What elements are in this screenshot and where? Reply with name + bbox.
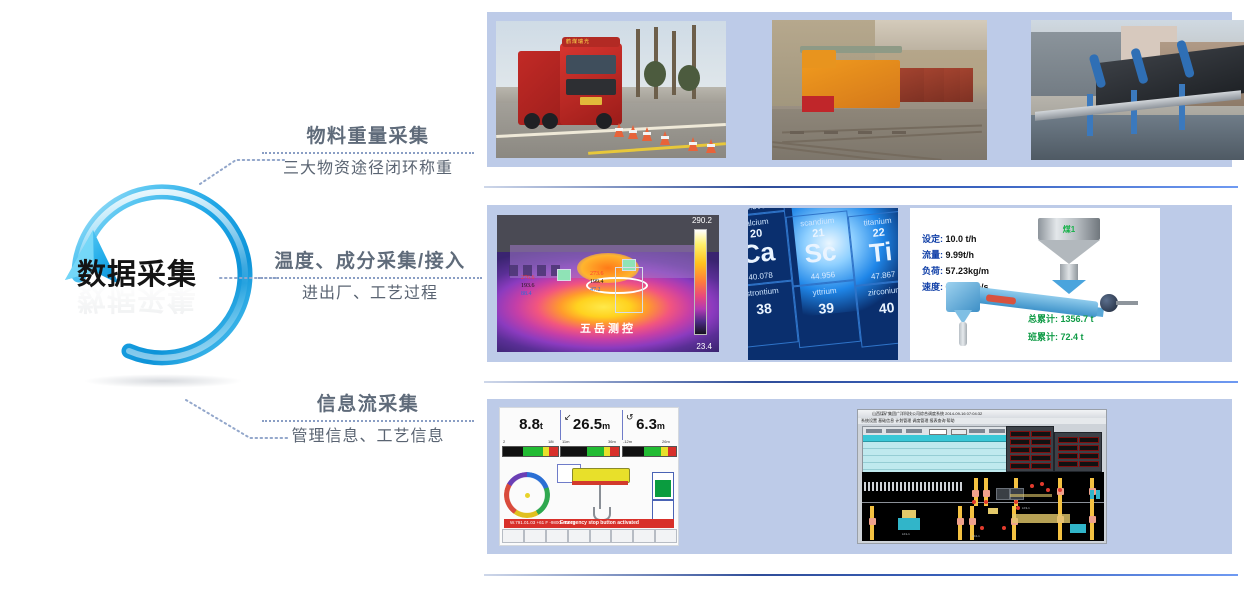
label-subtitle: 管理信息、工艺信息	[262, 426, 474, 448]
truck-license-plate	[580, 97, 602, 105]
toolbar-button[interactable]	[655, 529, 677, 543]
stacker-post	[1090, 506, 1094, 540]
mimic-diagram[interactable]: LF1-1 LF2-1 LF3-1	[862, 472, 1104, 541]
filter-radio[interactable]	[906, 429, 922, 433]
bar-segment	[523, 447, 543, 456]
label-divider	[258, 277, 482, 279]
crane-tick-left: 2	[503, 439, 505, 444]
locomotive-front	[802, 96, 834, 112]
status-indicator	[1014, 500, 1018, 504]
led-readout	[1010, 447, 1030, 453]
bar-segment	[549, 447, 558, 456]
filter-radio[interactable]	[989, 429, 1005, 433]
support-leg	[1131, 90, 1137, 134]
panels-column: 鹤煤瑞光	[480, 0, 1244, 597]
bar-segment	[587, 447, 604, 456]
status-indicator	[972, 500, 976, 504]
row-separator	[484, 574, 1238, 576]
status-indicator	[980, 526, 984, 530]
element-name: zirconium	[857, 284, 898, 299]
crane-number: 26.5	[573, 416, 602, 433]
slew-dial-indicator	[525, 493, 530, 498]
crane-bar-height	[622, 446, 677, 457]
thermal-scale-max: 290.2	[692, 216, 712, 225]
led-readout	[1031, 463, 1051, 469]
crane-bar-radius	[560, 446, 620, 457]
element-symbol: Sc	[789, 236, 852, 270]
crane-lmi-display: 8.8t ↙ 26.5m ↺ 6.3m 2 18t 11m 36m -12m 2…	[499, 407, 679, 546]
element-number: 39	[796, 297, 857, 319]
status-indicator	[1040, 482, 1044, 486]
panel-material-weight: 鹤煤瑞光	[487, 12, 1232, 167]
thermal-camera-image: 276.6 193.6 88.4 273.6 199.4 47.2 五岳测控 2…	[497, 215, 719, 352]
led-readout	[1079, 461, 1099, 467]
hopper-label: 煤1	[1049, 224, 1089, 235]
feeder-reading-key: 负荷:	[922, 266, 943, 276]
bar-segment	[561, 447, 587, 456]
panel-temperature-composition: 276.6 193.6 88.4 273.6 199.4 47.2 五岳测控 2…	[487, 205, 1232, 362]
chute	[988, 508, 998, 514]
thermal-reading-hot: 276.6	[521, 275, 535, 282]
traffic-cone	[706, 139, 716, 153]
bar-segment	[610, 447, 619, 456]
status-indicator	[1016, 506, 1020, 510]
toolbar-button[interactable]	[502, 529, 524, 543]
led-readout	[1010, 455, 1030, 461]
element-cell-strontium: strontium 38	[748, 281, 799, 349]
element-cell-yttrium: yttrium 39	[793, 280, 861, 348]
led-readout	[1010, 439, 1030, 445]
crane-tick-left: 11m	[562, 439, 569, 444]
thermal-reading-low: 47.2	[590, 287, 601, 294]
led-readout	[1079, 453, 1099, 459]
status-indicator	[984, 500, 988, 504]
yard-pile	[1012, 514, 1070, 523]
thermal-roi-box	[615, 267, 643, 313]
crane-number: 8.8	[519, 416, 540, 433]
stacker-post	[1058, 506, 1062, 540]
alarm-message: Emergency stop button activated	[560, 520, 639, 526]
status-indicator	[1002, 526, 1006, 530]
toolbar-button[interactable]	[611, 529, 633, 543]
element-mass: 47.867	[855, 268, 898, 283]
crane-unit: m	[602, 421, 610, 431]
feeder-shift-total: 班累计: 72.4 t	[1028, 330, 1084, 343]
thermal-color-scale	[694, 229, 707, 335]
led-readout	[1010, 431, 1030, 437]
node-caption: LF3-1	[1022, 506, 1030, 510]
crane-unit: t	[540, 421, 543, 431]
crane-tick-right: 26m	[662, 439, 670, 444]
row-separator	[484, 186, 1238, 188]
equipment-block[interactable]	[996, 488, 1010, 500]
tree	[672, 31, 676, 95]
feeder-reading-key: 速度:	[922, 282, 943, 292]
train-photo	[772, 20, 987, 160]
toolbar-button[interactable]	[590, 529, 612, 543]
bar-segment	[543, 447, 550, 456]
element-number: 38	[748, 298, 795, 320]
side-gauge-upper[interactable]	[652, 472, 674, 500]
thermal-scale-min: 23.4	[696, 342, 712, 351]
crane-cell-height: ↺ 6.3m	[622, 410, 678, 440]
truck-sign-text: 鹤煤瑞光	[566, 38, 590, 45]
label-title: 温度、成分采集/接入	[258, 250, 482, 274]
led-readout	[1058, 453, 1078, 459]
crane-number: 6.3	[636, 416, 657, 433]
equipment-node[interactable]	[972, 490, 979, 497]
hopper-neck	[1060, 264, 1078, 280]
label-subtitle: 三大物资途径闭环称重	[262, 158, 474, 180]
level-divider	[862, 502, 1104, 503]
label-group-information-flow[interactable]: 信息流采集 管理信息、工艺信息	[262, 393, 474, 448]
thermal-marker-box	[557, 269, 571, 281]
railroad-tie	[790, 131, 804, 134]
label-divider	[262, 420, 474, 422]
cycle-shadow	[83, 374, 243, 388]
gauge-fill	[655, 480, 671, 497]
hopper-cone	[1038, 240, 1100, 264]
truck-grille	[566, 79, 616, 95]
element-cell-titanium: titanium 22 Ti 47.867	[848, 211, 898, 287]
window-title: 山西煤矿集团广洋科技公司综合调度系统 2014-09-16 07:04:32	[872, 411, 982, 417]
feeder-reading-value: 9.99t/h	[946, 250, 975, 260]
freight-wagon	[924, 68, 944, 102]
periodic-table-image: 24.305 calcium 20 Ca 40.078 scandium 21 …	[748, 208, 898, 360]
element-symbol: Ca	[748, 236, 789, 270]
table-row[interactable]	[863, 442, 1009, 449]
alarm-led-panel-1	[1006, 426, 1054, 472]
truck-windshield	[566, 55, 616, 74]
led-readout	[1058, 445, 1078, 451]
table-row[interactable]	[863, 449, 1009, 456]
led-readout	[1031, 455, 1051, 461]
freight-wagon	[960, 68, 973, 102]
thermal-window	[537, 265, 546, 276]
led-readout	[1031, 447, 1051, 453]
led-readout	[1079, 445, 1099, 451]
locomotive-cab	[802, 50, 836, 68]
label-divider	[262, 152, 474, 154]
alarm-banner: W.791.01.03 +61 F -9800 +0248 Emergency …	[504, 519, 674, 528]
equipment-node[interactable]	[969, 518, 976, 525]
table-row[interactable]	[863, 456, 1009, 463]
tree	[636, 29, 640, 97]
crane-value: 8.8t	[502, 416, 560, 433]
toolbar-button[interactable]	[633, 529, 655, 543]
coal-feeder-scada: 设定: 10.0 t/h 流量: 9.99t/h 负荷: 57.23kg/m 速…	[910, 208, 1160, 360]
traffic-cone	[614, 123, 624, 137]
bar-segment	[623, 447, 644, 456]
led-readout	[1058, 437, 1078, 443]
ground	[1031, 115, 1244, 160]
label-title: 信息流采集	[262, 393, 474, 417]
crane-toolbar[interactable]	[502, 529, 677, 543]
node-caption: LF1-1	[902, 532, 910, 536]
element-cell-zirconium: zirconium 40	[855, 280, 898, 348]
feeder-reading-row: 流量: 9.99t/h	[922, 248, 974, 261]
status-indicator	[1046, 488, 1050, 492]
element-symbol: Ti	[851, 236, 898, 270]
thermal-reading-mid: 199.4	[590, 279, 604, 286]
loading-hopper	[902, 510, 916, 518]
feeder-reading-row: 负荷: 57.23kg/m	[922, 264, 989, 277]
conveyor-photo	[1031, 20, 1244, 160]
traffic-cone	[660, 131, 670, 145]
feeder-reading-key: 流量:	[922, 250, 943, 260]
crane-tick-left: -12m	[623, 439, 632, 444]
crane-tick-right: 36m	[608, 439, 616, 444]
tree-canopy	[678, 65, 700, 91]
equipment-node[interactable]	[983, 490, 990, 497]
toolbar-button[interactable]	[524, 529, 546, 543]
crane-cell-radius: ↙ 26.5m	[560, 410, 622, 440]
table-header-row	[863, 435, 1009, 442]
periodic-table-grid: 24.305 calcium 20 Ca 40.078 scandium 21 …	[748, 208, 898, 360]
element-cell-scandium: scandium 21 Sc 44.956	[786, 211, 855, 287]
belt-line	[1010, 494, 1052, 497]
feeder-reading-value: 10.0 t/h	[946, 234, 977, 244]
feeder-total: 总累计: 1356.7 t	[1028, 312, 1094, 325]
element-number: 40	[858, 297, 898, 319]
led-readout	[1079, 437, 1099, 443]
led-readout	[1058, 461, 1078, 467]
crane-value: 26.5m	[561, 416, 622, 433]
conveyor-hatch	[864, 482, 964, 491]
label-group-temperature-composition[interactable]: 温度、成分采集/接入 进出厂、工艺过程	[258, 250, 482, 305]
thermal-reading-mid: 193.6	[521, 283, 535, 290]
drive-shaft	[1116, 301, 1138, 305]
plan-table[interactable]	[862, 426, 1010, 472]
led-readout	[1010, 463, 1030, 469]
crane-bar-load	[502, 446, 559, 457]
crane-value: 6.3m	[623, 416, 678, 433]
freight-wagon	[944, 68, 960, 102]
truck-wheel	[596, 113, 612, 129]
filter-toolbar[interactable]	[863, 427, 1009, 435]
traffic-cone	[628, 125, 638, 139]
feeder-reading-key: 设定:	[922, 234, 943, 244]
hopper-support-leg	[959, 322, 967, 346]
feeder-reading-row: 设定: 10.0 t/h	[922, 232, 977, 245]
label-group-material-weight[interactable]: 物料重量采集 三大物资途径闭环称重	[262, 125, 474, 180]
truck-wheel	[542, 113, 558, 129]
status-indicator	[1058, 488, 1062, 492]
label-title: 物料重量采集	[262, 125, 474, 149]
silo-indicator	[1096, 490, 1100, 499]
traffic-cone	[688, 137, 698, 151]
node-caption: LF2-1	[972, 534, 980, 538]
table-row[interactable]	[863, 463, 1009, 470]
alarm-led-panel-2	[1054, 432, 1102, 472]
feeder-reading-value: 57.23kg/m	[946, 266, 990, 276]
filter-radio[interactable]	[886, 429, 902, 433]
hoist-rope	[599, 485, 601, 509]
status-indicator	[1030, 484, 1034, 488]
loading-station[interactable]	[898, 518, 920, 530]
thermal-reading-hot: 273.6	[590, 271, 604, 278]
bar-segment	[644, 447, 661, 456]
thermal-reading-low: 88.4	[521, 291, 532, 298]
silo-indicator	[1090, 490, 1094, 499]
label-subtitle: 进出厂、工艺过程	[258, 283, 482, 305]
dispatch-scada-window: 山西煤矿集团广洋科技公司综合调度系统 2014-09-16 07:04:32 系…	[857, 409, 1107, 544]
equipment-node[interactable]	[1089, 516, 1096, 523]
led-readout	[1031, 431, 1051, 437]
support-leg	[1179, 84, 1185, 130]
filter-radio[interactable]	[969, 429, 985, 433]
discharge-chute	[1052, 280, 1086, 294]
tree-canopy	[644, 61, 666, 87]
menu-items: 系统设置 基础信息 计划管理 调度管理 报表查询 帮助	[861, 418, 955, 424]
filter-radio[interactable]	[866, 429, 882, 433]
thermal-watermark: 五岳测控	[497, 320, 719, 336]
equipment-node[interactable]	[957, 518, 964, 525]
diagram-column: 数据采集 数据采集 物料重量采集 三大物资途径闭环称重 温度、成分采集/接入 进…	[0, 0, 480, 597]
crane-tick-right: 18t	[548, 439, 554, 444]
toolbar-button[interactable]	[546, 529, 568, 543]
crane-unit: m	[657, 421, 665, 431]
weighbridge[interactable]	[1070, 524, 1086, 533]
thermal-window	[509, 265, 518, 276]
receiving-hopper	[946, 282, 980, 312]
railroad-tie	[858, 131, 872, 134]
bar-segment	[668, 447, 676, 456]
traffic-cone	[642, 127, 652, 141]
railroad-tie	[892, 131, 906, 134]
led-readout	[1031, 439, 1051, 445]
crane-cell-load: 8.8t	[502, 410, 560, 440]
truck-photo: 鹤煤瑞光	[496, 21, 726, 158]
truck-wheel	[524, 113, 540, 129]
freight-wagon	[900, 68, 924, 102]
panel-information-flow: 8.8t ↙ 26.5m ↺ 6.3m 2 18t 11m 36m -12m 2…	[487, 399, 1232, 554]
equipment-node[interactable]	[869, 518, 876, 525]
toolbar-button[interactable]	[568, 529, 590, 543]
row-separator	[484, 381, 1238, 383]
bar-segment	[503, 447, 523, 456]
railroad-tie	[824, 131, 838, 134]
menu-bar[interactable]: 系统设置 基础信息 计划管理 调度管理 报表查询 帮助	[858, 418, 1106, 424]
